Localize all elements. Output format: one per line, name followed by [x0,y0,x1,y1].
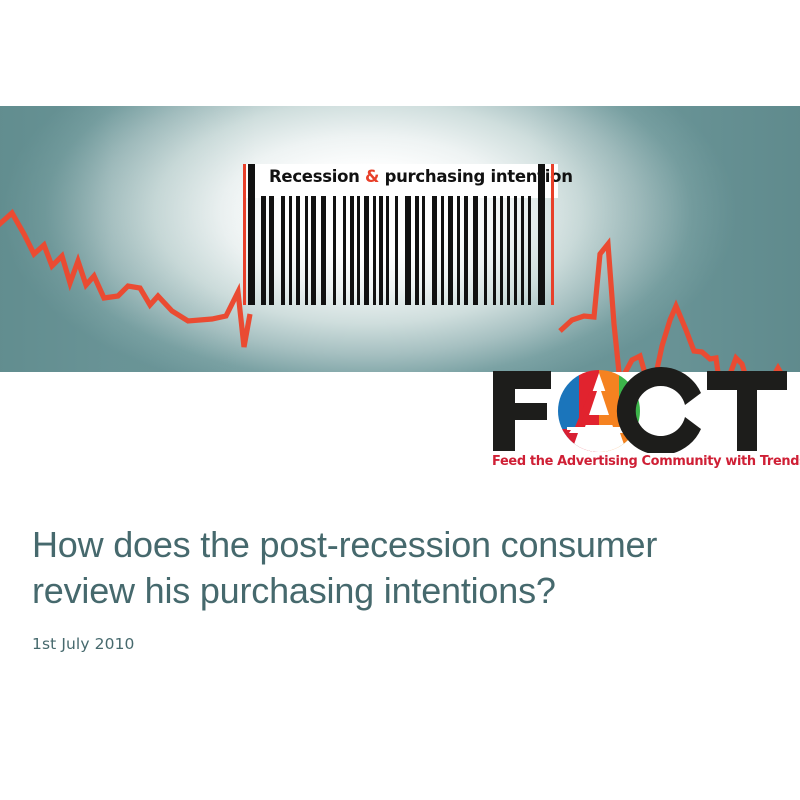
barcode-bar [289,196,292,305]
barcode-bar [364,196,369,305]
barcode-bar [464,196,468,305]
barcode-edge-marker [243,164,246,305]
barcode-bar [473,196,478,305]
barcode-bar [343,196,346,305]
letter-c-glyph [617,367,701,453]
letter-a-crossbar [581,415,599,425]
barcode-bar [448,196,453,305]
barcode-bar [484,196,487,305]
barcode-bar [538,164,545,305]
barcode-bar [311,196,316,305]
letter-f-glyph [493,371,551,451]
barcode-bar [321,196,326,305]
barcode-bar [350,196,354,305]
cover-banner-image: Recession & purchasing intention [0,106,800,372]
barcode-edge-marker [551,164,554,305]
barcode-bar [296,196,300,305]
barcode-bar [373,196,376,305]
barcode-bar [395,196,398,305]
barcode-bar [281,196,285,305]
barcode-bar [405,196,411,305]
trendline-right-segment [560,244,800,372]
barcode-title-ampersand: & [365,167,379,187]
page-title: How does the post-recession consumer rev… [32,522,744,614]
barcode-bar [507,196,510,305]
barcode-bar [261,196,266,305]
letter-a-crossbar-right [599,415,617,425]
barcode-bar [441,196,444,305]
barcode-bar [514,196,517,305]
barcode-bar [386,196,389,305]
barcode-bars [243,196,558,305]
barcode-bar [500,196,503,305]
barcode-bar [528,196,531,305]
barcode-bar [432,196,437,305]
barcode-bar [521,196,524,305]
barcode-title-prefix: Recession [269,167,365,187]
barcode-graphic: Recession & purchasing intention [243,164,558,305]
barcode-bar [305,196,308,305]
barcode-bar [415,196,419,305]
trendline-left-segment [0,213,250,347]
barcode-bar [269,196,274,305]
barcode-bar [357,196,360,305]
fact-logo: Feed the Advertising Community with Tren… [489,367,791,477]
barcode-bar [248,164,255,305]
fact-wordmark [489,367,791,453]
barcode-title-text: Recession & purchasing intention [269,167,529,187]
barcode-bar [379,196,383,305]
barcode-bar [493,196,496,305]
fact-tagline: Feed the Advertising Community with Tren… [492,454,788,469]
barcode-bar [457,196,460,305]
barcode-bar [333,196,336,305]
cover-title-block: How does the post-recession consumer rev… [32,522,762,653]
barcode-bar [422,196,425,305]
letter-t-glyph [707,371,787,451]
cover-date: 1st July 2010 [32,635,762,653]
